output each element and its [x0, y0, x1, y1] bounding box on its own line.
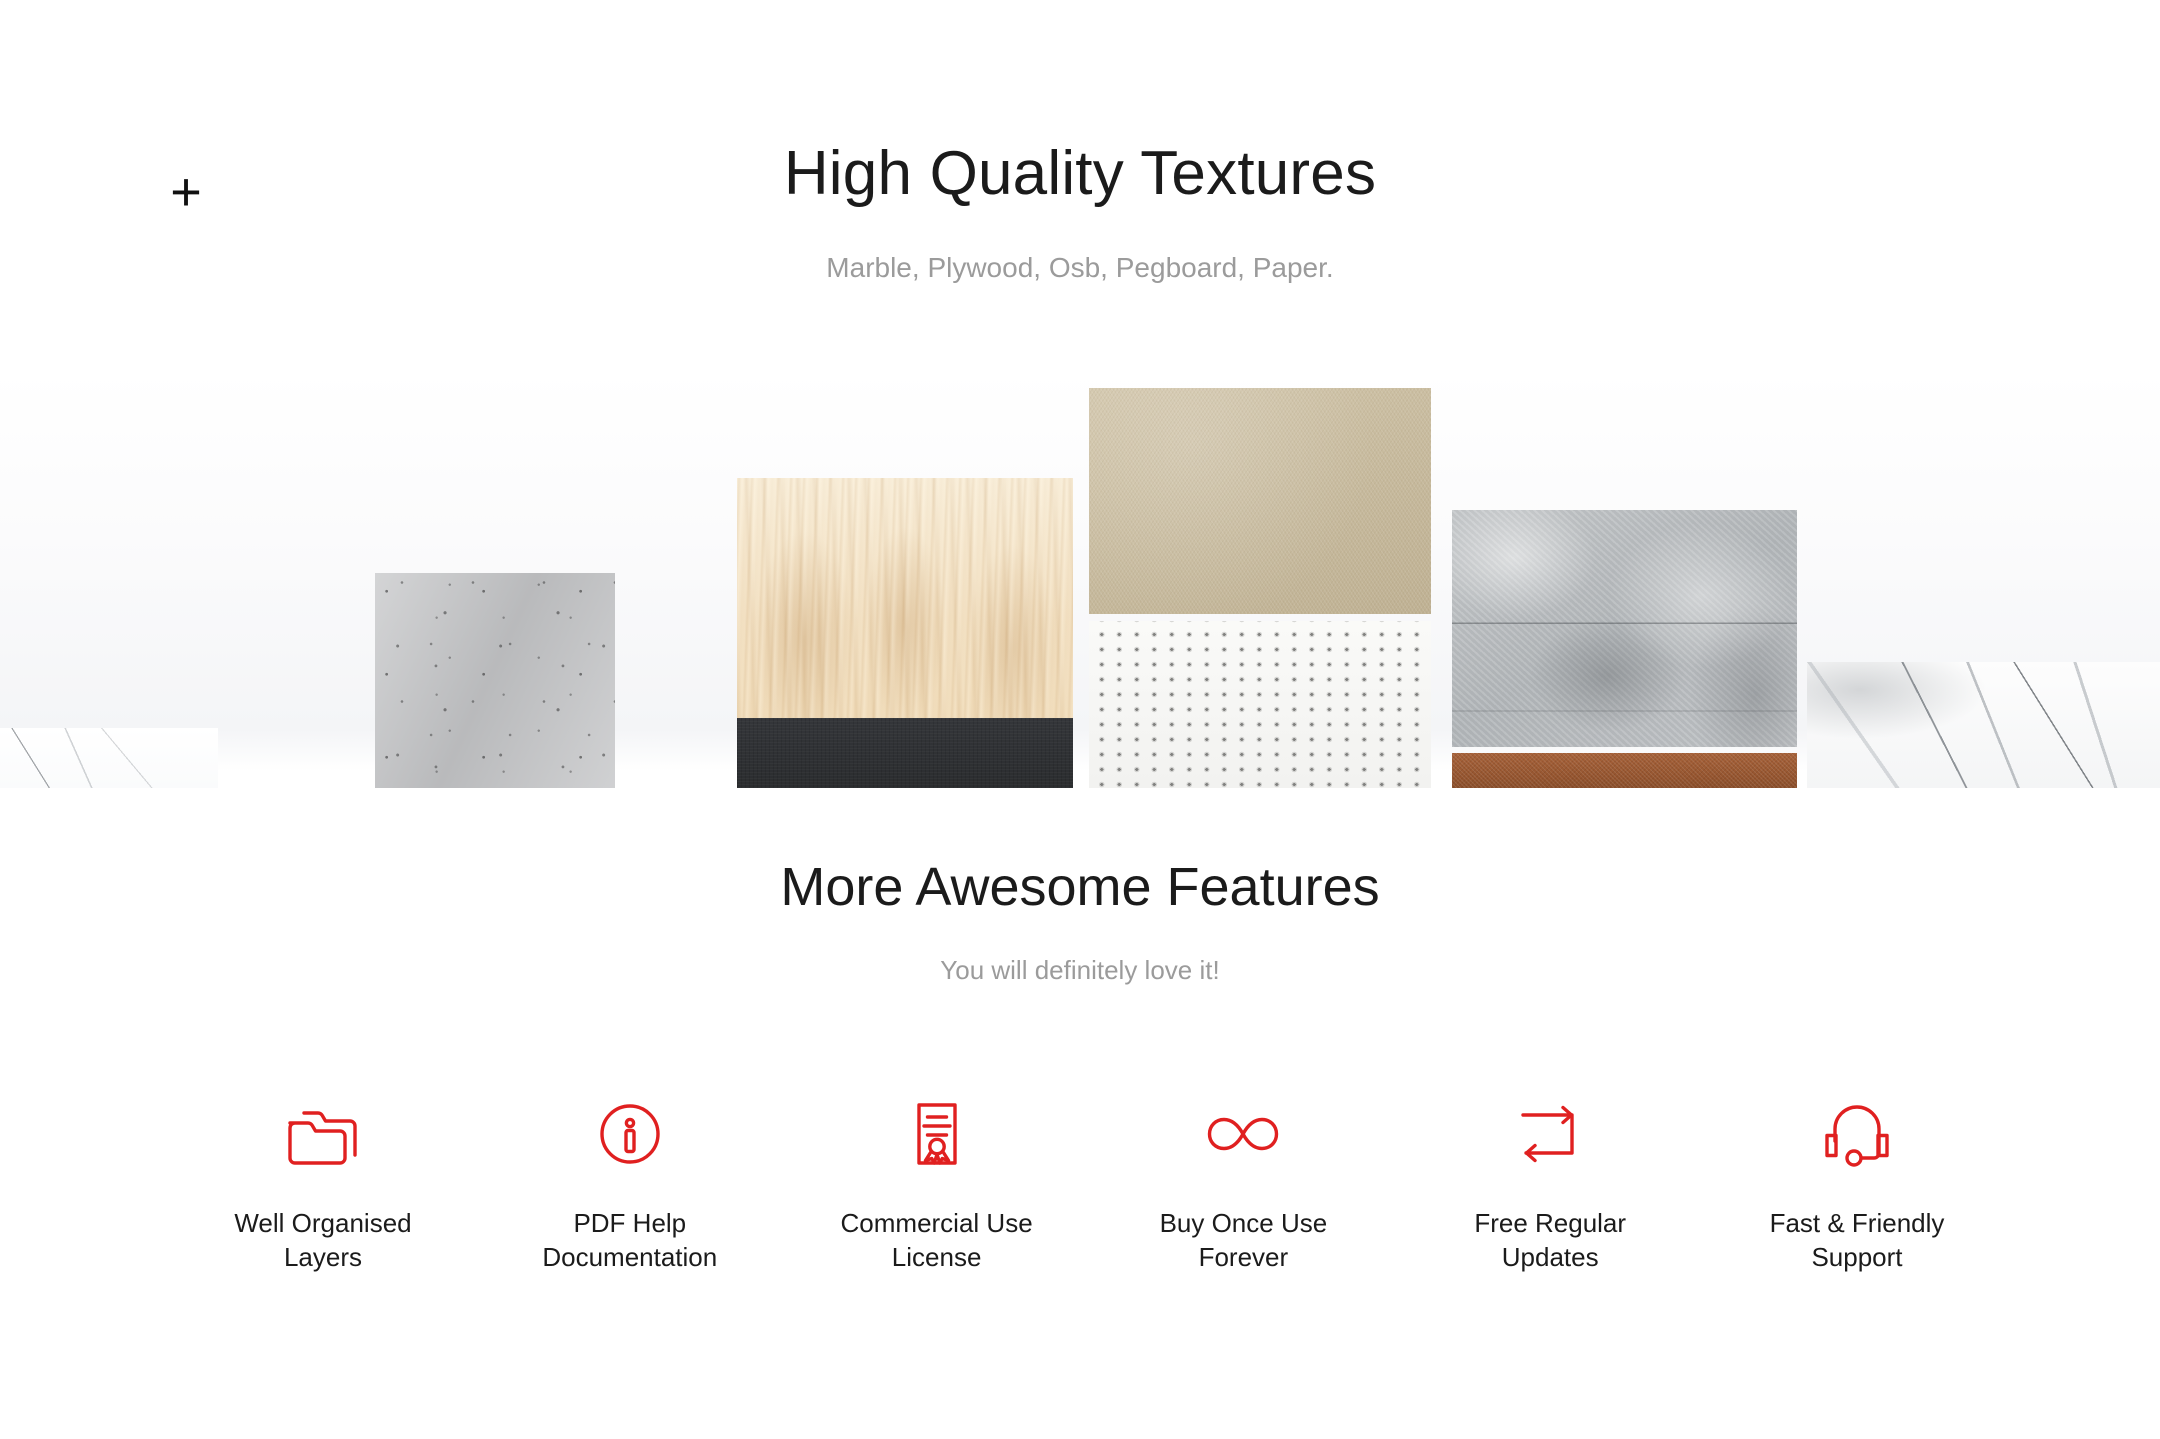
texture-tile-pegboard[interactable] [1089, 621, 1431, 788]
feature-label: Buy Once Use Forever [1160, 1206, 1328, 1275]
texture-tile-leather[interactable] [1452, 753, 1797, 788]
texture-tile-concrete-light[interactable] [375, 573, 615, 788]
page-subtitle: Marble, Plywood, Osb, Pegboard, Paper. [0, 252, 2160, 284]
hero-section: + High Quality Textures Marble, Plywood,… [0, 0, 2160, 370]
info-circle-icon [591, 1088, 669, 1180]
feature-label-line1: Free Regular [1474, 1208, 1626, 1238]
texture-showcase-band [0, 370, 2160, 788]
infinity-icon [1199, 1088, 1287, 1180]
feature-label-line2: Layers [284, 1242, 362, 1272]
feature-label-line1: Well Organised [234, 1208, 411, 1238]
texture-tile-concrete-grey[interactable] [1452, 510, 1797, 747]
features-section: More Awesome Features You will definitel… [0, 788, 2160, 1439]
feature-label-line2: Updates [1502, 1242, 1599, 1272]
feature-item-pdf-help-documentation[interactable]: PDF Help Documentation [477, 1088, 783, 1275]
feature-label-line1: Commercial Use [841, 1208, 1033, 1238]
texture-tile-dark-panel[interactable] [737, 718, 1073, 788]
certificate-icon [898, 1088, 976, 1180]
folders-icon [284, 1088, 362, 1180]
texture-tile-marble[interactable] [1807, 662, 2160, 788]
feature-label-line1: Fast & Friendly [1770, 1208, 1945, 1238]
feature-item-well-organised-layers[interactable]: Well Organised Layers [170, 1088, 476, 1275]
feature-label-line2: Support [1811, 1242, 1902, 1272]
feature-item-fast-friendly-support[interactable]: Fast & Friendly Support [1704, 1088, 2010, 1275]
feature-label-line2: License [892, 1242, 982, 1272]
feature-label-line2: Forever [1199, 1242, 1289, 1272]
feature-label: Free Regular Updates [1474, 1206, 1626, 1275]
feature-label: Commercial Use License [841, 1206, 1033, 1275]
refresh-loop-icon [1508, 1088, 1592, 1180]
page-title: High Quality Textures [0, 140, 2160, 208]
feature-label-line1: PDF Help [573, 1208, 686, 1238]
feature-label-line1: Buy Once Use [1160, 1208, 1328, 1238]
feature-label: Well Organised Layers [234, 1206, 411, 1275]
headset-icon [1817, 1088, 1897, 1180]
feature-label-line2: Documentation [542, 1242, 717, 1272]
features-grid: Well Organised Layers PDF Help Documenta… [170, 1088, 2010, 1275]
features-title: More Awesome Features [0, 788, 2160, 917]
texture-tile-paper-tan[interactable] [1089, 388, 1431, 614]
texture-tile-marble-sliver[interactable] [0, 728, 218, 788]
feature-item-commercial-use-license[interactable]: Commercial Use License [784, 1088, 1090, 1275]
features-subtitle: You will definitely love it! [0, 917, 2160, 986]
feature-label: PDF Help Documentation [542, 1206, 717, 1275]
feature-item-buy-once-use-forever[interactable]: Buy Once Use Forever [1090, 1088, 1396, 1275]
feature-item-free-regular-updates[interactable]: Free Regular Updates [1397, 1088, 1703, 1275]
feature-label: Fast & Friendly Support [1770, 1206, 1945, 1275]
